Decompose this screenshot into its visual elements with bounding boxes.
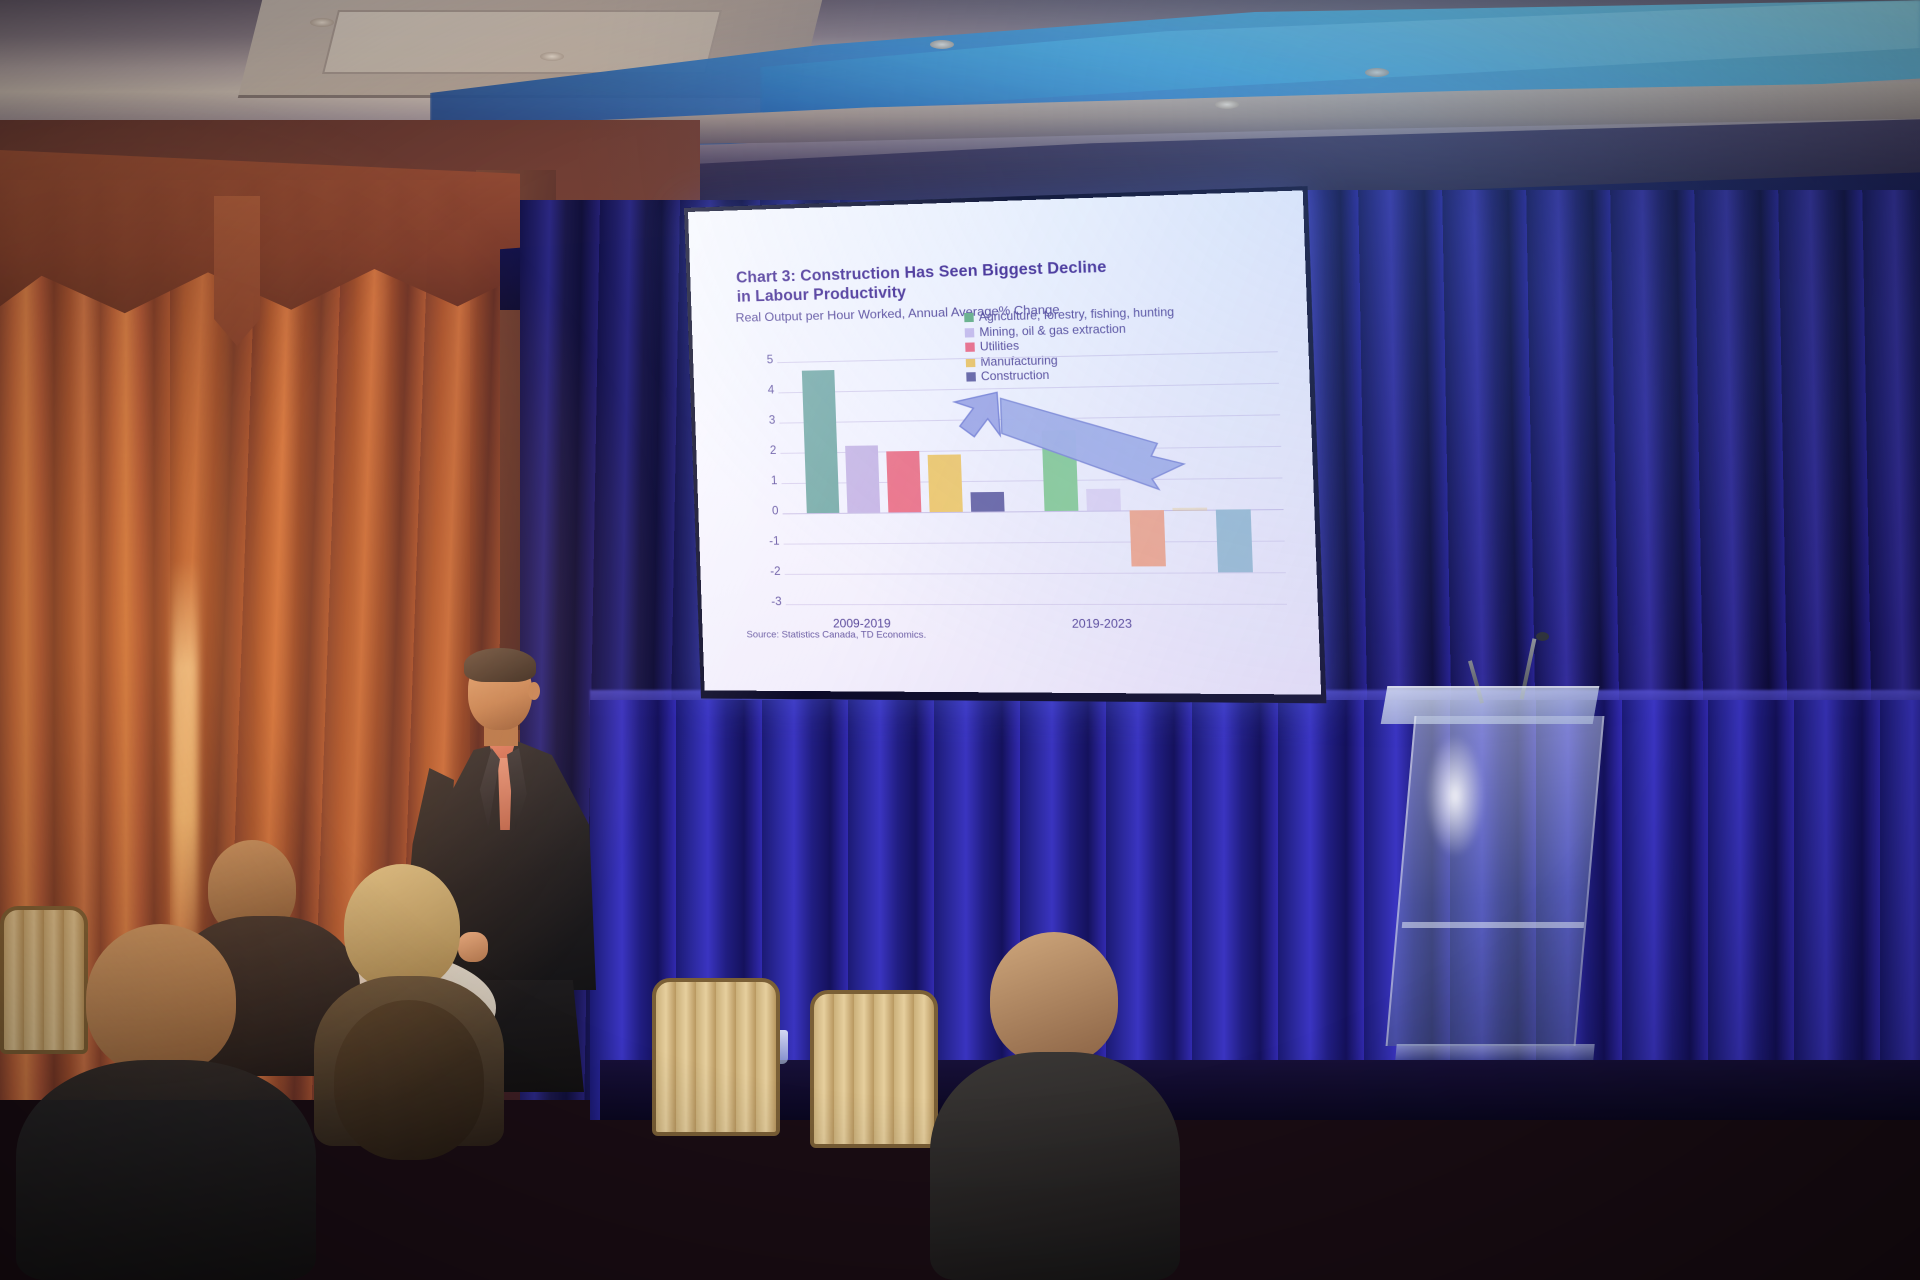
downlight-icon — [930, 40, 954, 49]
audience-head — [344, 864, 460, 990]
podium-base — [1395, 1044, 1594, 1060]
bar-manufacturing-2019-2023 — [1172, 508, 1207, 511]
podium-shelf — [1402, 922, 1585, 928]
gridline — [779, 414, 1280, 423]
microphone-head-icon — [1536, 632, 1549, 641]
stage-edge — [600, 1060, 1920, 1120]
gridline — [784, 541, 1285, 545]
downlight-icon — [310, 18, 334, 27]
y-tick-label: 0 — [756, 505, 779, 517]
bar-agriculture-2019-2023 — [1042, 430, 1079, 511]
downlight-icon — [1365, 68, 1389, 77]
y-tick-label: 2 — [754, 445, 777, 457]
bar-mining-2019-2023 — [1086, 489, 1121, 511]
presenter-right-hand — [458, 932, 488, 962]
gridline — [778, 383, 1279, 394]
y-tick-label: 3 — [753, 415, 776, 427]
gridline — [786, 604, 1287, 605]
gridline — [785, 572, 1286, 575]
presenter-hair — [464, 648, 536, 682]
legend-label-utilities: Utilities — [980, 339, 1020, 353]
y-tick-label: 4 — [752, 384, 775, 397]
podium — [1378, 672, 1614, 1092]
y-tick-label: 1 — [755, 475, 778, 487]
y-tick-label: -3 — [759, 596, 782, 608]
bar-utilities-2009-2019 — [886, 451, 921, 513]
legend-swatch-mining — [965, 328, 975, 337]
downlight-icon — [1215, 100, 1239, 109]
y-tick-label: 5 — [751, 354, 774, 367]
banquet-chair — [652, 978, 780, 1136]
bar-utilities-2019-2023 — [1130, 510, 1166, 566]
audience-head — [86, 924, 236, 1074]
legend-label-mining: Mining, oil & gas extraction — [979, 322, 1126, 339]
audience-head — [990, 932, 1118, 1064]
slide-source-note: Source: Statistics Canada, TD Economics. — [746, 628, 926, 639]
legend-swatch-agriculture — [964, 313, 974, 322]
bar-mining-2009-2019 — [845, 445, 880, 512]
bar-agriculture-2009-2019 — [802, 370, 839, 513]
stage-skirt — [590, 700, 1920, 1120]
legend-swatch-utilities — [965, 342, 975, 351]
podium-body — [1386, 716, 1605, 1046]
banquet-chair — [810, 990, 938, 1148]
audience-shoulders — [930, 1052, 1180, 1280]
curtain-valance-tail — [214, 196, 260, 346]
conference-room-photo: Chart 3: Construction Has Seen Biggest D… — [0, 0, 1920, 1280]
y-tick-label: -2 — [758, 566, 781, 578]
ceiling-coffer-inner — [322, 10, 722, 74]
audience-head — [334, 1000, 484, 1160]
chart-plot-area: 5 4 3 2 1 0 -1 -2 -3 — [753, 351, 1287, 604]
y-tick-label: -1 — [757, 536, 780, 548]
audience-shoulders — [16, 1060, 316, 1280]
x-tick-label-period-2: 2019-2023 — [1072, 616, 1133, 631]
projected-slide: Chart 3: Construction Has Seen Biggest D… — [688, 190, 1321, 694]
bar-construction-2019-2023 — [1216, 509, 1253, 572]
podium-light-reflection — [1426, 736, 1484, 856]
bar-construction-2009-2019 — [970, 492, 1004, 512]
bar-manufacturing-2009-2019 — [928, 454, 963, 512]
presenter-ear — [528, 682, 540, 700]
downlight-icon — [540, 52, 564, 61]
banquet-chair — [0, 906, 88, 1054]
